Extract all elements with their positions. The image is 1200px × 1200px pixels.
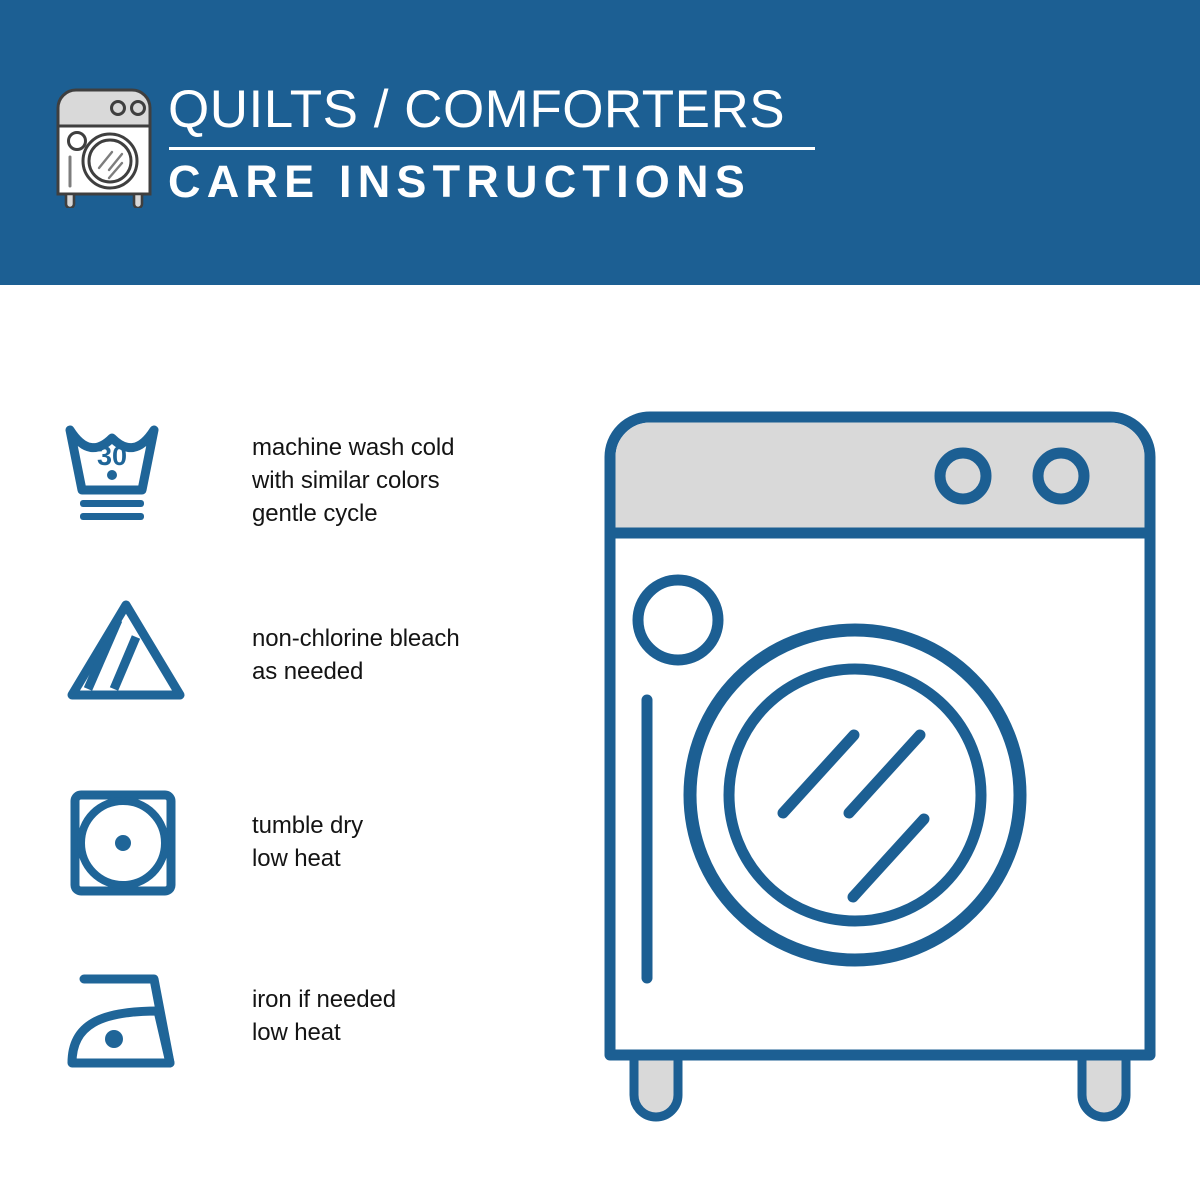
care-label-tumble-dry: tumble dry low heat [252, 809, 363, 875]
care-instructions-page: QUILTS / COMFORTERS CARE INSTRUCTIONS 30 [0, 0, 1200, 1200]
title-divider [169, 147, 815, 150]
wash-temperature-label: 30 [97, 441, 127, 471]
page-title-primary: QUILTS / COMFORTERS [168, 80, 828, 140]
header-text-block: QUILTS / COMFORTERS CARE INSTRUCTIONS [168, 80, 828, 208]
header-band: QUILTS / COMFORTERS CARE INSTRUCTIONS [0, 0, 1200, 285]
wash-tub-30-gentle-icon: 30 [62, 418, 190, 528]
care-label-wash: machine wash cold with similar colors ge… [252, 431, 454, 530]
care-label-iron: iron if needed low heat [252, 983, 396, 1049]
care-instruction-list: 30 machine wash cold with similar colors… [0, 285, 560, 1200]
care-label-bleach: non-chlorine bleach as needed [252, 622, 460, 688]
page-title-secondary: CARE INSTRUCTIONS [168, 156, 828, 208]
iron-low-heat-icon [62, 963, 190, 1073]
front-load-washing-machine-illustration [590, 395, 1170, 1125]
washer-knob-right [1038, 453, 1084, 499]
washing-machine-icon [52, 82, 156, 208]
washer-knob-left [940, 453, 986, 499]
non-chlorine-bleach-triangle-icon [62, 595, 190, 705]
tumble-dry-low-heat-icon [62, 787, 190, 897]
